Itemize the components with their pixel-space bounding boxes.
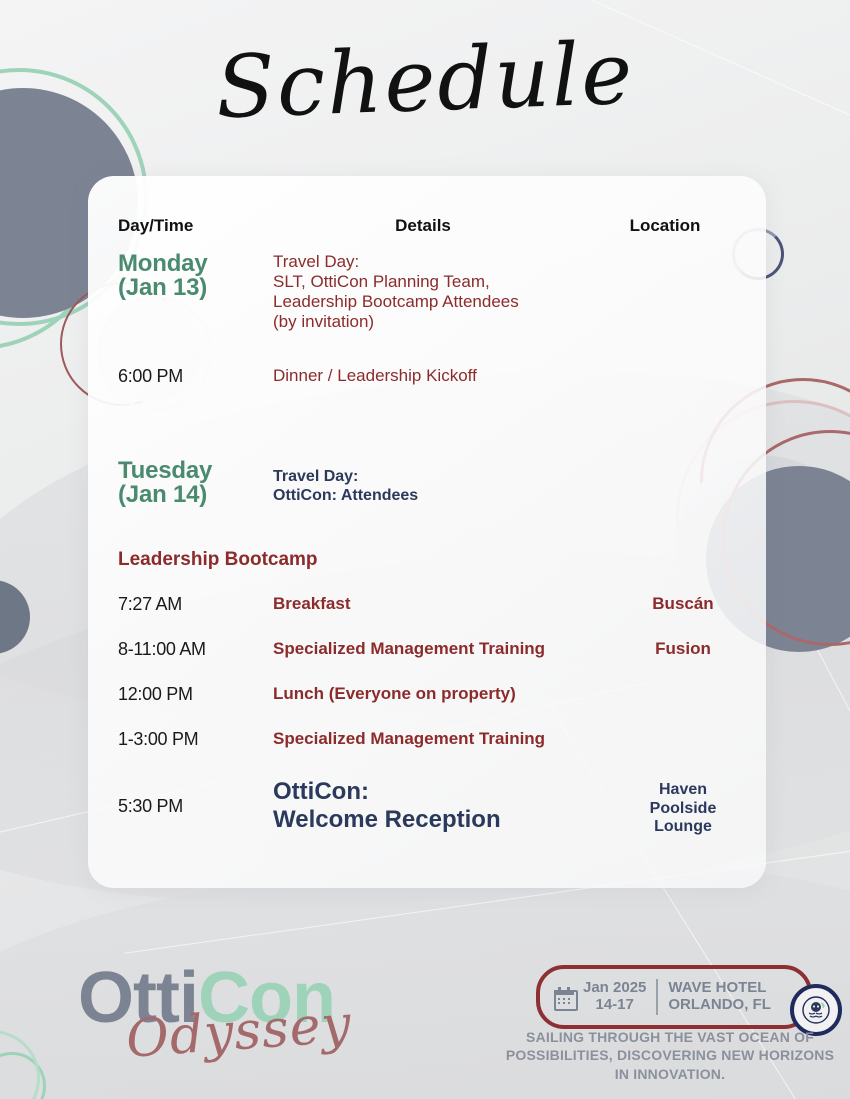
table-row: 7:27 AM Breakfast Buscán <box>118 594 738 615</box>
badge-venue-line1: WAVE HOTEL <box>668 980 771 997</box>
cell-day: Tuesday (Jan 14) <box>118 459 273 508</box>
table-row: 1-3:00 PM Specialized Management Trainin… <box>118 729 738 750</box>
time-label: 8-11:00 AM <box>118 639 273 660</box>
location-text: Buscán <box>628 594 738 614</box>
location-text: Fusion <box>628 639 738 659</box>
day-label-line2: (Jan 14) <box>118 483 273 507</box>
cell-details: Travel Day: SLT, OttiCon Planning Team, … <box>273 252 628 332</box>
badge-divider <box>656 979 658 1015</box>
cell-details: Lunch (Everyone on property) <box>273 684 628 704</box>
details-line-1: Travel Day: <box>273 467 628 486</box>
cell-location: Haven Poolside Lounge <box>628 778 738 836</box>
cell-time: 8-11:00 AM <box>118 639 273 660</box>
cell-details: Specialized Management Training <box>273 729 628 749</box>
section-heading: Leadership Bootcamp <box>118 549 318 571</box>
table-row: 6:00 PM Dinner / Leadership Kickoff <box>118 366 738 387</box>
event-info-badge: Jan 2025 14-17 WAVE HOTEL ORLANDO, FL <box>536 965 812 1029</box>
table-row: 12:00 PM Lunch (Everyone on property) <box>118 684 738 705</box>
day-label-line1: Monday <box>118 252 273 276</box>
details-line-2: SLT, OttiCon Planning Team, <box>273 272 628 292</box>
details-line-3: Leadership Bootcamp Attendees <box>273 292 628 312</box>
time-label: 5:30 PM <box>118 796 273 817</box>
time-label: 7:27 AM <box>118 594 273 615</box>
badge-date-group: Jan 2025 14-17 <box>540 980 646 1014</box>
details-line-1: Travel Day: <box>273 252 628 272</box>
details-line-1: OttiCon: <box>273 778 628 806</box>
cell-time: 12:00 PM <box>118 684 273 705</box>
day-label-line2: (Jan 13) <box>118 276 273 300</box>
details-text: Specialized Management Training <box>273 639 628 659</box>
decorative-circle-gray-left <box>0 580 30 654</box>
table-header-row: Day/Time Details Location <box>118 216 738 240</box>
cell-location: Buscán <box>628 594 738 614</box>
schedule-rows: Monday (Jan 13) Travel Day: SLT, OttiCon… <box>118 252 738 837</box>
badge-date-line2: 14-17 <box>583 997 646 1014</box>
location-line-3: Lounge <box>628 818 738 836</box>
cell-time: 7:27 AM <box>118 594 273 615</box>
column-header-location: Location <box>590 216 740 236</box>
badge-venue-line2: ORLANDO, FL <box>668 997 771 1014</box>
cell-details: Specialized Management Training <box>273 639 628 659</box>
details-line-4: (by invitation) <box>273 312 628 332</box>
location-line-2: Poolside <box>628 800 738 818</box>
brand-logo: OttiCon Odyssey <box>78 962 438 1072</box>
location-line-1: Haven <box>628 781 738 799</box>
day-label-line1: Tuesday <box>118 459 273 483</box>
details-text: Dinner / Leadership Kickoff <box>273 366 628 386</box>
details-line-2: Welcome Reception <box>273 806 628 834</box>
cell-day: Monday (Jan 13) <box>118 252 273 301</box>
column-header-day-time: Day/Time <box>118 216 193 236</box>
badge-date-line1: Jan 2025 <box>583 980 646 997</box>
decorative-ring-green-bottomleft-1 <box>0 1052 46 1099</box>
page-title: Schedule <box>0 13 850 150</box>
cell-location: Fusion <box>628 639 738 659</box>
cell-time: 1-3:00 PM <box>118 729 273 750</box>
badge-date-text: Jan 2025 14-17 <box>583 980 646 1014</box>
event-tagline: SAILING THROUGH THE VAST OCEAN OF POSSIB… <box>500 1028 840 1083</box>
details-text: Breakfast <box>273 594 628 614</box>
table-row: 8-11:00 AM Specialized Management Traini… <box>118 639 738 660</box>
calendar-icon <box>554 987 574 1007</box>
table-row: Tuesday (Jan 14) Travel Day: OttiCon: At… <box>118 459 738 508</box>
time-label: 1-3:00 PM <box>118 729 273 750</box>
cell-time: 5:30 PM <box>118 778 273 817</box>
decorative-ring-green-bottomleft-2 <box>0 1030 40 1099</box>
cell-details: OttiCon: Welcome Reception <box>273 778 628 833</box>
details-text: Specialized Management Training <box>273 729 628 749</box>
details-line-2: OttiCon: Attendees <box>273 486 628 505</box>
table-row: Monday (Jan 13) Travel Day: SLT, OttiCon… <box>118 252 738 332</box>
details-text: Lunch (Everyone on property) <box>273 684 628 704</box>
section-heading-row: Leadership Bootcamp <box>118 549 738 571</box>
cell-details: Dinner / Leadership Kickoff <box>273 366 628 386</box>
time-label: 12:00 PM <box>118 684 273 705</box>
badge-venue-text: WAVE HOTEL ORLANDO, FL <box>668 980 771 1014</box>
cell-time: 6:00 PM <box>118 366 273 387</box>
poster-page: Schedule Day/Time Details Location Monda… <box>0 0 850 1099</box>
time-label: 6:00 PM <box>118 366 273 387</box>
cell-details: Breakfast <box>273 594 628 614</box>
cell-details: Travel Day: OttiCon: Attendees <box>273 459 628 505</box>
column-header-details: Details <box>308 216 538 236</box>
table-row: 5:30 PM OttiCon: Welcome Reception Haven… <box>118 778 738 836</box>
